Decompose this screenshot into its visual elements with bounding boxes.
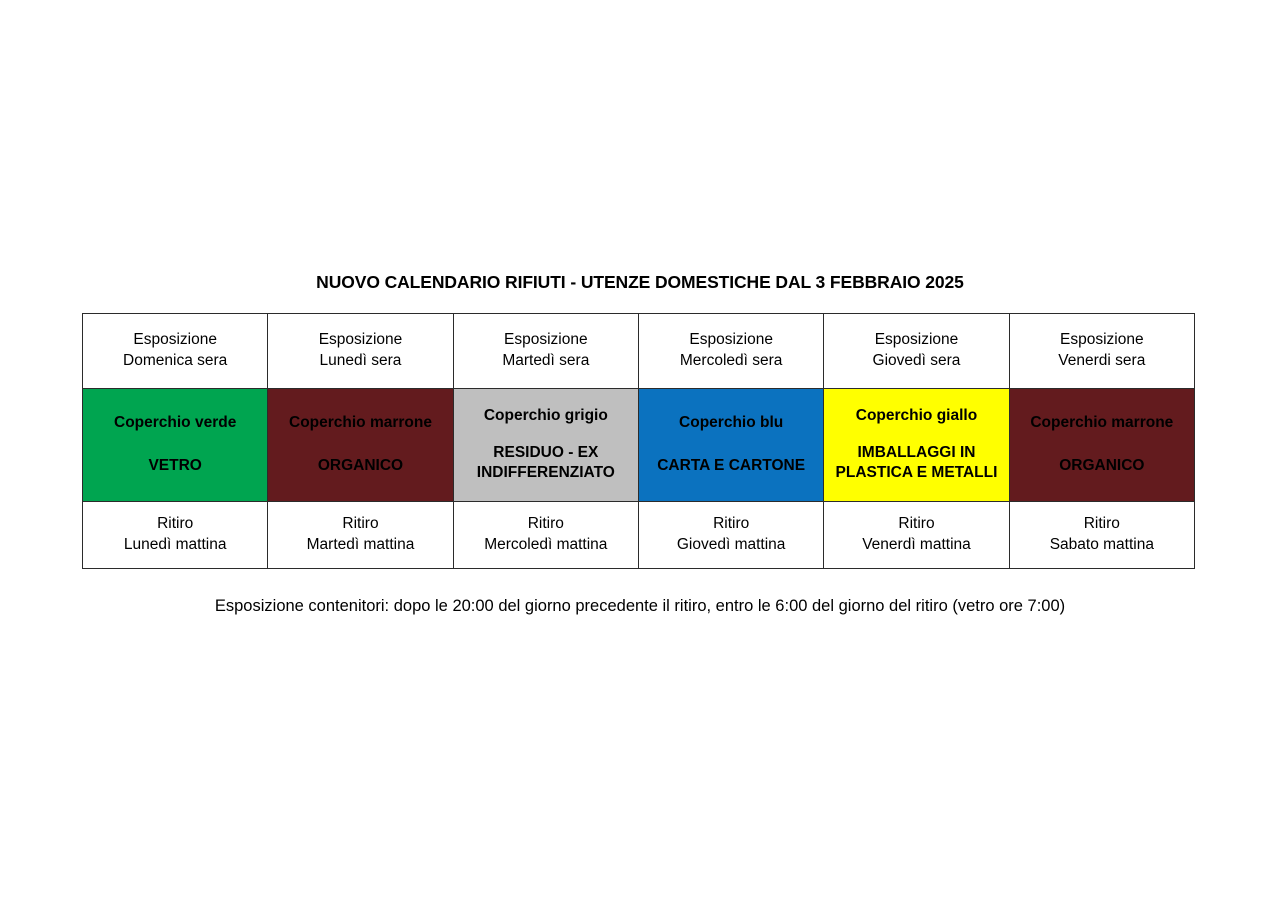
- bin-waste-1: ORGANICO: [268, 456, 452, 476]
- waste-collection-table: Esposizione Domenica sera Esposizione Lu…: [82, 313, 1195, 569]
- pickup-cell-0: Ritiro Lunedì mattina: [83, 502, 268, 569]
- bin-lid-4: Coperchio giallo: [824, 406, 1008, 427]
- bin-waste-3-line1: CARTA E CARTONE: [639, 456, 823, 476]
- bin-waste-5-line1: ORGANICO: [1010, 456, 1194, 476]
- bin-waste-4: IMBALLAGGI IN PLASTICA E METALLI: [824, 443, 1008, 483]
- table-row-pickup: Ritiro Lunedì mattina Ritiro Martedì mat…: [83, 502, 1195, 569]
- bin-waste-2-line1: RESIDUO - EX: [454, 443, 638, 463]
- exposure-instructions-note: Esposizione contenitori: dopo le 20:00 d…: [0, 597, 1280, 616]
- pickup-day-1: Martedì mattina: [268, 535, 452, 556]
- exposure-day-3: Mercoledì sera: [639, 351, 823, 372]
- exposure-label-3: Esposizione: [639, 330, 823, 351]
- bin-cell-plastic-metal: Coperchio giallo IMBALLAGGI IN PLASTICA …: [824, 389, 1009, 502]
- pickup-cell-2: Ritiro Mercoledì mattina: [453, 502, 638, 569]
- bin-lid-5: Coperchio marrone: [1010, 413, 1194, 434]
- pickup-label-0: Ritiro: [83, 514, 267, 535]
- bin-waste-4-line1: IMBALLAGGI IN: [824, 443, 1008, 463]
- bin-waste-4-line2: PLASTICA E METALLI: [824, 463, 1008, 483]
- pickup-cell-5: Ritiro Sabato mattina: [1009, 502, 1194, 569]
- exposure-cell-5: Esposizione Venerdi sera: [1009, 314, 1194, 389]
- bin-lid-1: Coperchio marrone: [268, 413, 452, 434]
- bin-lid-2: Coperchio grigio: [454, 406, 638, 427]
- pickup-day-4: Venerdì mattina: [824, 535, 1008, 556]
- bin-waste-2: RESIDUO - EX INDIFFERENZIATO: [454, 443, 638, 483]
- bin-waste-2-line2: INDIFFERENZIATO: [454, 463, 638, 483]
- table-row-bin: Coperchio verde VETRO Coperchio marrone …: [83, 389, 1195, 502]
- exposure-cell-2: Esposizione Martedì sera: [453, 314, 638, 389]
- exposure-cell-4: Esposizione Giovedì sera: [824, 314, 1009, 389]
- exposure-day-4: Giovedì sera: [824, 351, 1008, 372]
- exposure-cell-0: Esposizione Domenica sera: [83, 314, 268, 389]
- pickup-day-3: Giovedì mattina: [639, 535, 823, 556]
- pickup-label-5: Ritiro: [1010, 514, 1194, 535]
- bin-cell-organic-2: Coperchio marrone ORGANICO: [1009, 389, 1194, 502]
- bin-waste-0-line1: VETRO: [83, 456, 267, 476]
- pickup-label-1: Ritiro: [268, 514, 452, 535]
- pickup-label-4: Ritiro: [824, 514, 1008, 535]
- waste-calendar-page: NUOVO CALENDARIO RIFIUTI - UTENZE DOMEST…: [0, 0, 1280, 904]
- exposure-day-5: Venerdi sera: [1010, 351, 1194, 372]
- exposure-day-2: Martedì sera: [454, 351, 638, 372]
- exposure-label-4: Esposizione: [824, 330, 1008, 351]
- pickup-day-0: Lunedì mattina: [83, 535, 267, 556]
- exposure-label-5: Esposizione: [1010, 330, 1194, 351]
- bin-lid-0: Coperchio verde: [83, 413, 267, 434]
- exposure-day-1: Lunedì sera: [268, 351, 452, 372]
- pickup-label-2: Ritiro: [454, 514, 638, 535]
- pickup-cell-4: Ritiro Venerdì mattina: [824, 502, 1009, 569]
- exposure-cell-1: Esposizione Lunedì sera: [268, 314, 453, 389]
- page-title: NUOVO CALENDARIO RIFIUTI - UTENZE DOMEST…: [0, 272, 1280, 293]
- pickup-cell-1: Ritiro Martedì mattina: [268, 502, 453, 569]
- pickup-day-2: Mercoledì mattina: [454, 535, 638, 556]
- exposure-label-0: Esposizione: [83, 330, 267, 351]
- bin-lid-3: Coperchio blu: [639, 413, 823, 434]
- exposure-label-1: Esposizione: [268, 330, 452, 351]
- bin-waste-3: CARTA E CARTONE: [639, 456, 823, 476]
- pickup-cell-3: Ritiro Giovedì mattina: [638, 502, 823, 569]
- pickup-label-3: Ritiro: [639, 514, 823, 535]
- bin-waste-0: VETRO: [83, 456, 267, 476]
- bin-cell-organic-1: Coperchio marrone ORGANICO: [268, 389, 453, 502]
- exposure-label-2: Esposizione: [454, 330, 638, 351]
- bin-waste-1-line1: ORGANICO: [268, 456, 452, 476]
- exposure-day-0: Domenica sera: [83, 351, 267, 372]
- bin-cell-residual: Coperchio grigio RESIDUO - EX INDIFFEREN…: [453, 389, 638, 502]
- table-row-exposure: Esposizione Domenica sera Esposizione Lu…: [83, 314, 1195, 389]
- bin-cell-paper: Coperchio blu CARTA E CARTONE: [638, 389, 823, 502]
- bin-waste-5: ORGANICO: [1010, 456, 1194, 476]
- exposure-cell-3: Esposizione Mercoledì sera: [638, 314, 823, 389]
- pickup-day-5: Sabato mattina: [1010, 535, 1194, 556]
- bin-cell-glass: Coperchio verde VETRO: [83, 389, 268, 502]
